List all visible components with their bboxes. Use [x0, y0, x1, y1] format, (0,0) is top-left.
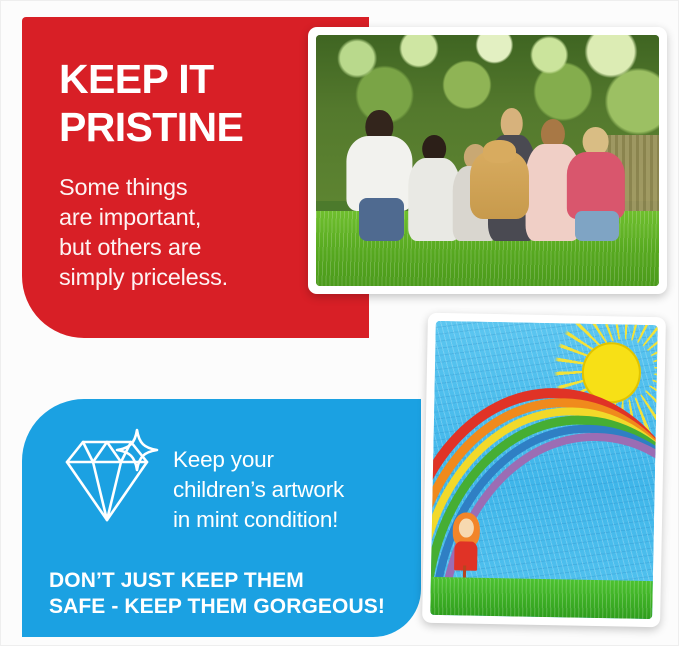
childrens-artwork-frame — [422, 313, 666, 628]
blue-panel-tagline: Keep your children’s artwork in mint con… — [173, 445, 423, 535]
crayon-drawing-scene — [430, 321, 658, 619]
person-father — [347, 107, 412, 241]
family-photo-image — [316, 35, 659, 286]
golden-retriever-dog — [470, 151, 528, 219]
blue-panel-cta: DON’T JUST KEEP THEM SAFE - KEEP THEM GO… — [49, 568, 419, 620]
childrens-artwork-image — [430, 321, 658, 619]
legs — [575, 211, 619, 241]
crayon-grass — [430, 577, 653, 619]
family-photo-scene — [316, 35, 659, 286]
legs — [463, 566, 466, 578]
family-photo-frame — [308, 27, 667, 294]
legs — [359, 198, 405, 241]
diamond-sparkle-icon — [49, 416, 167, 534]
page-title: KEEP IT PRISTINE — [59, 55, 349, 151]
torso — [566, 152, 624, 219]
drawn-girl-figure — [449, 512, 484, 577]
red-panel-subcopy: Some things are important, but others ar… — [59, 172, 339, 292]
face — [459, 518, 474, 538]
family-group — [316, 85, 659, 241]
infographic-canvas: KEEP IT PRISTINE Some things are importa… — [0, 0, 679, 646]
person-child-4 — [566, 126, 624, 241]
